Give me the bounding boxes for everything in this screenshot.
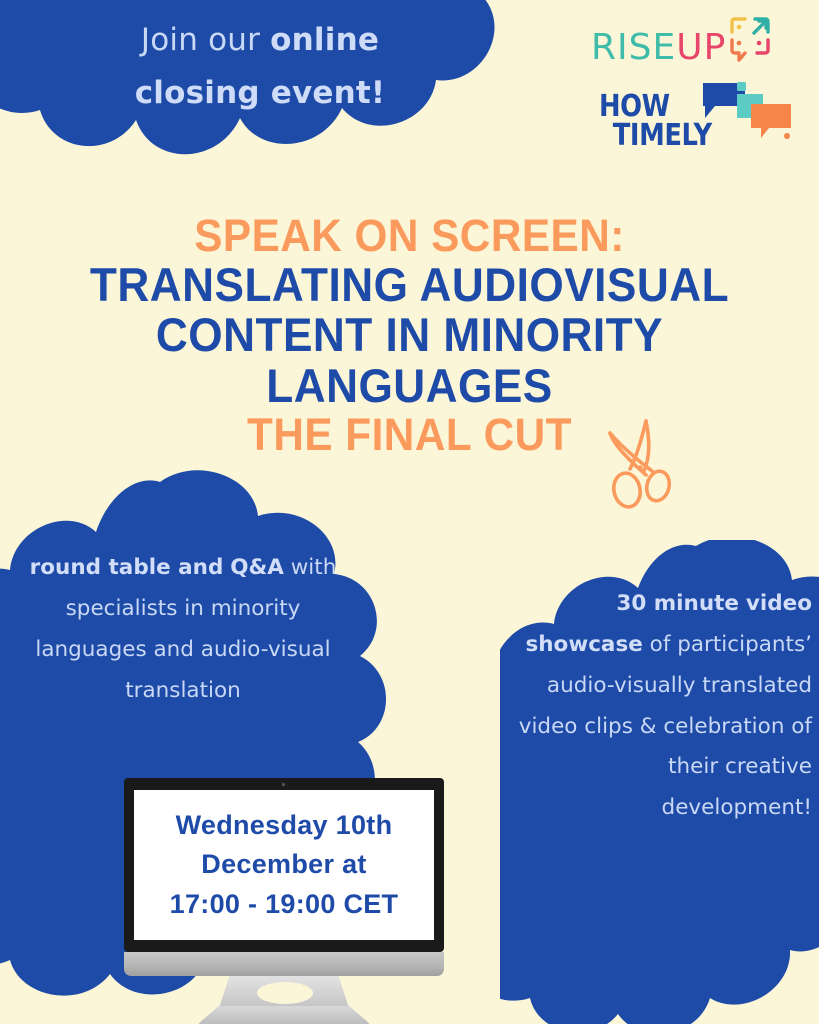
event-time-line: 17:00 - 19:00 CET [170,885,399,924]
riseup-speech-bubble-icon [728,16,772,64]
right-bold-1: 30 minute [616,591,739,616]
join-line2-bold: closing event! [135,75,386,111]
howtimely-logo: HOW TIMELY [599,86,799,172]
riseup-logo: RISEUP [591,30,772,66]
riseup-rise-text: RISE [591,30,676,66]
right-blob-text: 30 minute video showcase of participants… [512,584,812,829]
monitor-bezel: Wednesday 10th December at 17:00 - 19:00… [124,778,444,952]
title-line-4: LANGUAGES [25,361,795,411]
riseup-up-text: UP [676,30,726,66]
left-blob-text: round table and Q&A with specialists in … [10,548,356,711]
event-date-line-1: Wednesday 10th [176,806,393,845]
monitor-stand [219,976,349,1008]
left-bold-1: round table and [30,555,224,580]
webcam-dot-icon [282,783,285,786]
title-line-3: CONTENT IN MINORITY [25,310,795,360]
right-rest: of participants’ audio-visually translat… [519,632,812,820]
monitor-graphic: Wednesday 10th December at 17:00 - 19:00… [124,778,444,1024]
monitor-screen: Wednesday 10th December at 17:00 - 19:00… [134,790,434,940]
logo-group: RISEUP [575,14,803,174]
event-date-line-2: December at [201,845,366,884]
event-poster: Join our online closing event! RISEUP [0,0,819,1024]
howtimely-line1: HOW [599,92,712,121]
join-line1-bold: online [270,22,379,58]
monitor-stand-cutout [257,982,313,1004]
howtimely-wordmark: HOW TIMELY [599,92,712,151]
howtimely-speech-bubbles-icon [699,80,795,140]
join-headline: Join our online closing event! [40,14,480,121]
join-line1-plain: Join our [141,22,270,58]
monitor-chin [124,952,444,976]
title-line-1: SPEAK ON SCREEN: [25,212,795,260]
title-line-2: TRANSLATING AUDIOVISUAL [25,260,795,310]
scissors-icon [600,417,686,509]
howtimely-line2: TIMELY [613,121,712,150]
monitor-foot [198,1006,370,1024]
page-title: SPEAK ON SCREEN: TRANSLATING AUDIOVISUAL… [0,212,819,459]
left-bold-2: Q&A [230,555,284,580]
